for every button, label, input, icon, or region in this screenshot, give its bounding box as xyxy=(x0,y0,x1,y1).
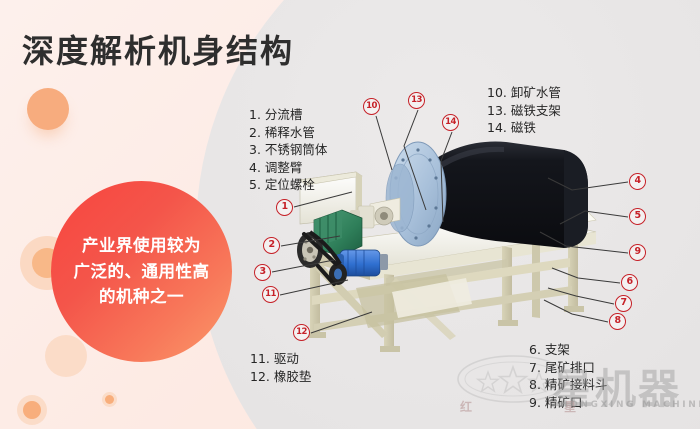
part-item: 10. 卸矿水管 xyxy=(487,84,561,102)
callout-marker-2: 2 xyxy=(263,237,280,254)
callout-marker-5: 5 xyxy=(629,208,646,225)
callout-marker-11: 11 xyxy=(262,286,279,303)
callout-marker-9: 9 xyxy=(629,244,646,261)
infographic-canvas: 产业界使用较为 广泛的、通用性高 的机种之一 深度解析机身结构 xyxy=(0,0,700,429)
part-item: 2. 稀释水管 xyxy=(249,124,327,142)
callout-marker-3: 3 xyxy=(254,264,271,281)
part-item: 5. 定位螺栓 xyxy=(249,176,327,194)
parts-list-left: 1. 分流槽 2. 稀释水管 3. 不锈钢筒体 4. 调整臂 5. 定位螺栓 xyxy=(249,106,327,194)
watermark-brand-en: HONGXING MACHINERY xyxy=(560,400,700,410)
highlight-line-3: 的机种之一 xyxy=(99,284,184,310)
machine-illustration xyxy=(296,128,608,358)
part-item: 3. 不锈钢筒体 xyxy=(249,141,327,159)
callout-marker-12: 12 xyxy=(293,324,310,341)
callout-marker-1: 1 xyxy=(276,199,293,216)
page-title: 深度解析机身结构 xyxy=(22,26,294,72)
decorative-circle-1 xyxy=(27,88,69,130)
callout-marker-13: 13 xyxy=(408,92,425,109)
highlight-text: 产业界使用较为 广泛的、通用性高 的机种之一 xyxy=(51,181,232,362)
parts-list-bottom-left: 11. 驱动 12. 橡胶垫 xyxy=(250,350,311,385)
part-item: 4. 调整臂 xyxy=(249,159,327,177)
decorative-circle-8 xyxy=(105,395,114,404)
decorative-circle-6 xyxy=(23,401,41,419)
callout-marker-7: 7 xyxy=(615,295,632,312)
part-item: 12. 橡胶垫 xyxy=(250,368,311,386)
part-item: 14. 磁铁 xyxy=(487,119,561,137)
highlight-line-2: 广泛的、通用性高 xyxy=(74,259,210,285)
part-item: 11. 驱动 xyxy=(250,350,311,368)
highlight-line-1: 产业界使用较为 xyxy=(82,233,201,259)
part-item: 1. 分流槽 xyxy=(249,106,327,124)
callout-marker-14: 14 xyxy=(442,114,459,131)
callout-marker-4: 4 xyxy=(629,173,646,190)
callout-marker-6: 6 xyxy=(621,274,638,291)
parts-list-top-right: 10. 卸矿水管 13. 磁铁支架 14. 磁铁 xyxy=(487,84,561,137)
callout-marker-10: 10 xyxy=(363,98,380,115)
part-item: 13. 磁铁支架 xyxy=(487,102,561,120)
callout-marker-8: 8 xyxy=(609,313,626,330)
